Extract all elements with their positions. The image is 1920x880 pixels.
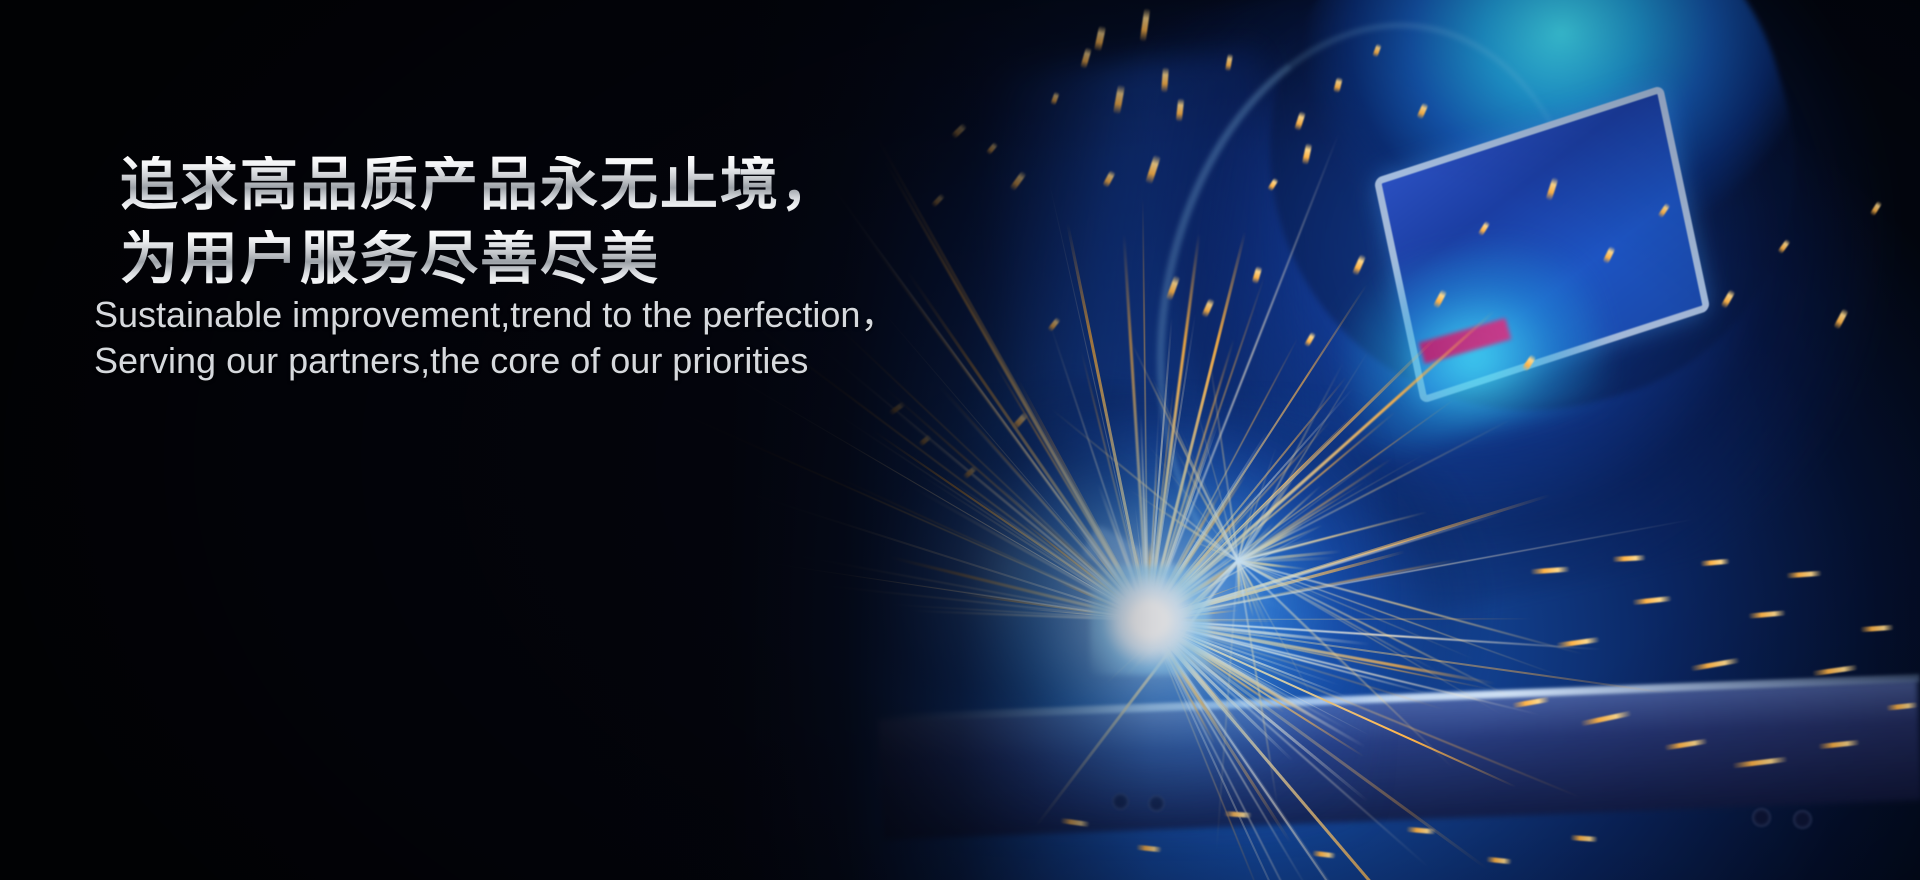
banner-copy: 追求高品质产品永无止境， 为用户服务尽善尽美 Sustainable impro… — [0, 0, 1920, 880]
subtitle-line-1: Sustainable improvement,trend to the per… — [94, 297, 896, 333]
headline-line-1: 追求高品质产品永无止境， — [120, 156, 840, 214]
subtitle-line-2: Serving our partners,the core of our pri… — [94, 343, 808, 379]
headline-line-2: 为用户服务尽善尽美 — [120, 230, 660, 288]
welding-hero-banner: 追求高品质产品永无止境， 为用户服务尽善尽美 Sustainable impro… — [0, 0, 1920, 880]
